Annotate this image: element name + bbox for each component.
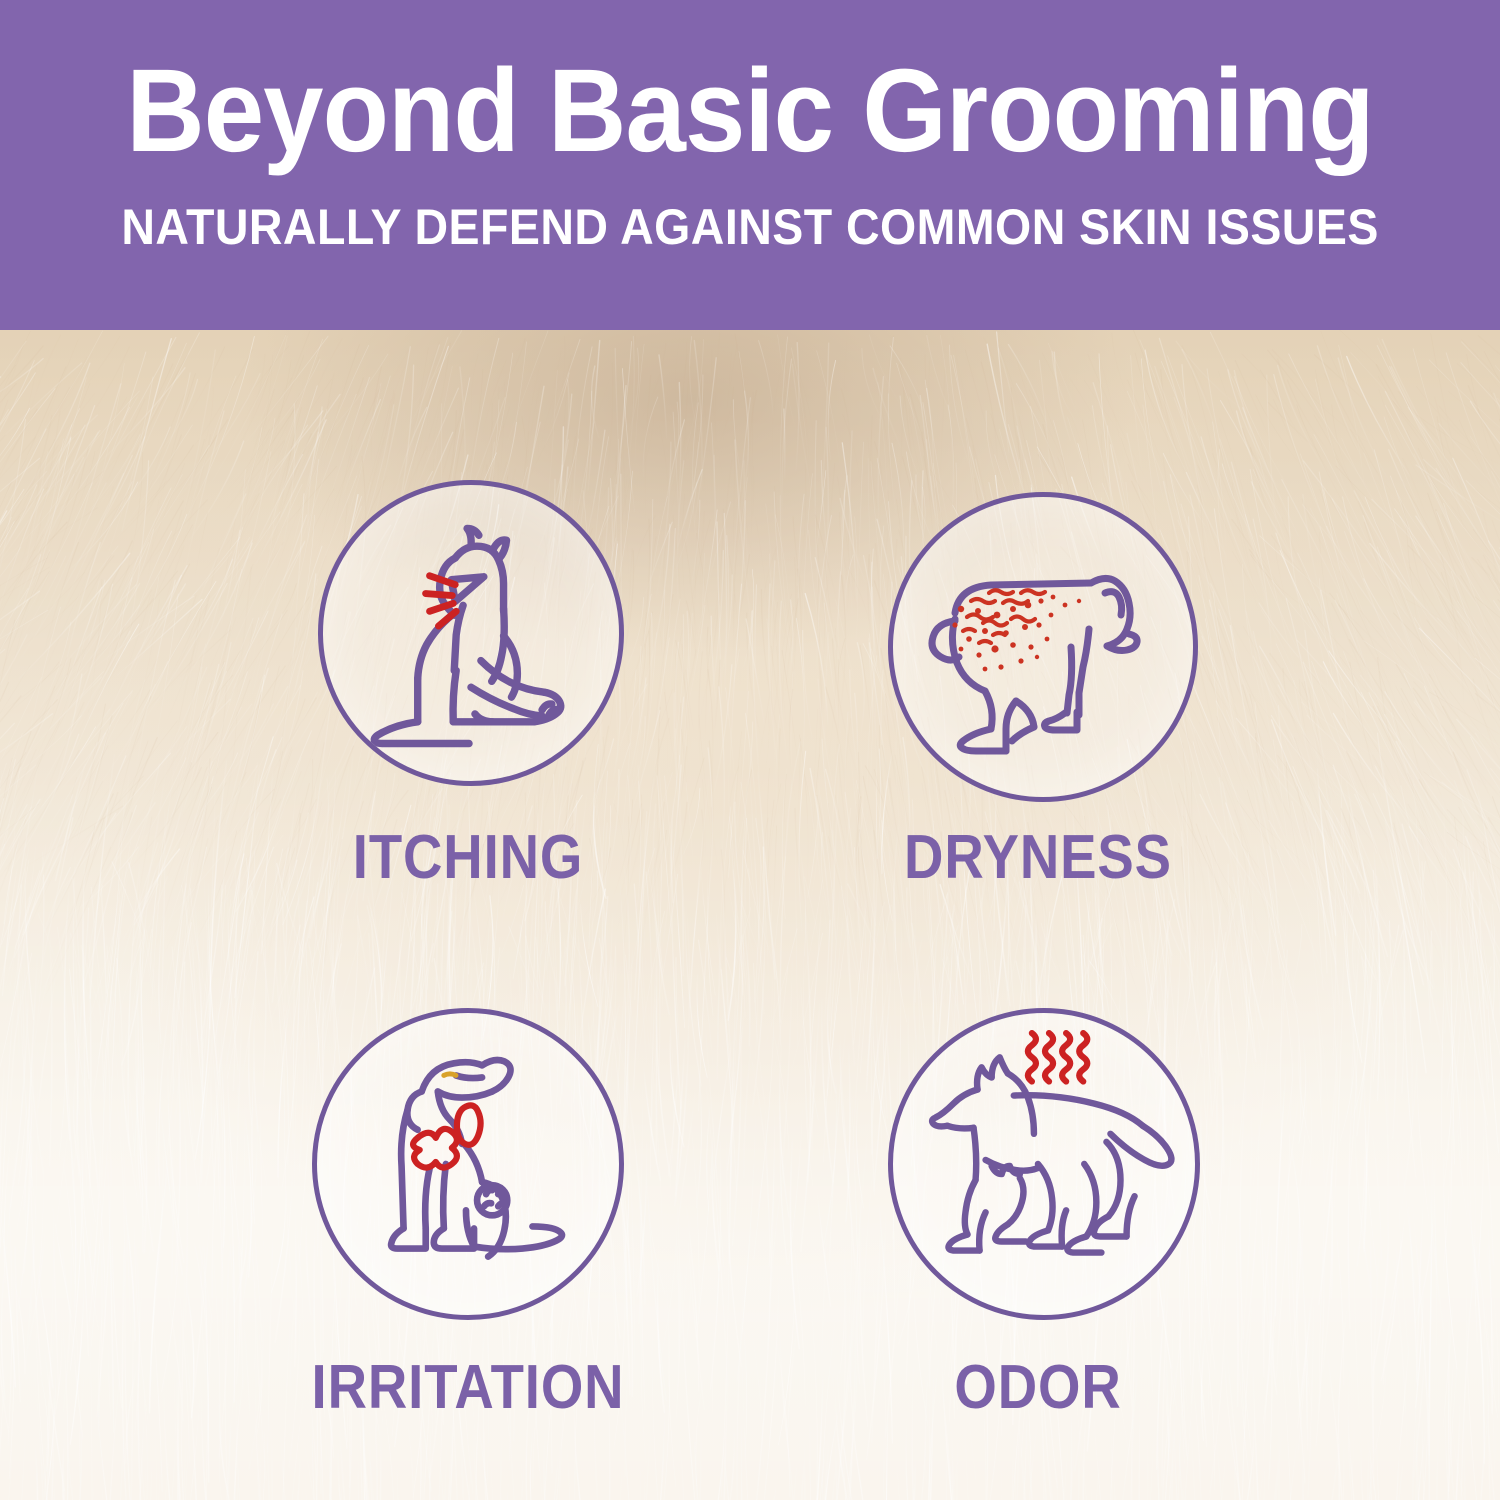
benefit-label-itching: ITCHING — [292, 822, 644, 893]
page-subtitle: NATURALLY DEFEND AGAINST COMMON SKIN ISS… — [121, 198, 1378, 256]
header-banner: Beyond Basic Grooming NATURALLY DEFEND A… — [0, 0, 1500, 330]
benefit-label-irritation: IRRITATION — [274, 1352, 661, 1423]
dog-odor-icon — [888, 1008, 1200, 1320]
page-title: Beyond Basic Grooming — [126, 52, 1373, 170]
marketing-infographic: Beyond Basic Grooming NATURALLY DEFEND A… — [0, 0, 1500, 1500]
benefit-label-dryness: DRYNESS — [862, 822, 1214, 893]
stink-wavy-lines — [1028, 1033, 1087, 1081]
nose-mark — [444, 1074, 456, 1076]
dandruff-flakes — [963, 590, 1045, 643]
benefit-label-odor: ODOR — [862, 1352, 1214, 1423]
fur-strand-texture — [0, 330, 1500, 1500]
dog-flaky-skin-icon — [888, 492, 1198, 802]
fur-background-image — [0, 330, 1500, 1500]
dandruff-dots — [952, 595, 1081, 672]
dog-scratching-icon — [318, 480, 624, 786]
dog-irritated-patches-icon — [312, 1008, 624, 1320]
